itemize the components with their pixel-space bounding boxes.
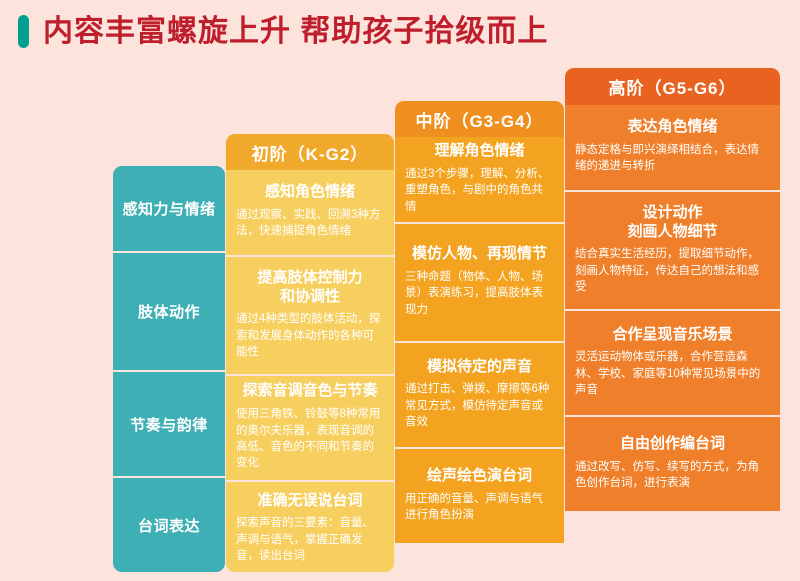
cell-l1-r4: 准确无误说台词 探索声音的三要素：音量、声调与语气，掌握正确发音，读出台词 (226, 482, 394, 572)
cell-l3-r3: 合作呈现音乐场景 灵活运动物体或乐器，合作营造森林、学校、家庭等10种常见场景中… (565, 311, 780, 417)
level-header-intermediate: 中阶（G3-G4） (395, 101, 564, 137)
curriculum-matrix: 感知力与情绪 肢体动作 节奏与韵律 台词表达 初阶（K-G2） 感知角色情绪 通… (0, 0, 800, 581)
cell-desc: 通过3个步骤，理解、分析、重塑角色，与剧中的角色共情 (405, 166, 554, 215)
cell-desc: 灵活运动物体或乐器，合作营造森林、学校、家庭等10种常见场景中的声音 (575, 349, 770, 398)
cell-desc: 用正确的音量、声调与语气进行角色扮演 (405, 491, 554, 524)
level-column-beginner: 初阶（K-G2） 感知角色情绪 通过观察、实践、回溯3种方法，快速捕捉角色情绪 … (226, 134, 394, 572)
cell-desc: 探索声音的三要素：音量、声调与语气，掌握正确发音，读出台词 (236, 515, 384, 564)
cell-desc: 结合真实生活经历，提取细节动作，刻画人物特征，传达自己的想法和感受 (575, 246, 770, 295)
cell-title: 理解角色情绪 (434, 142, 524, 161)
cell-l1-r3: 探索音调音色与节奏 使用三角铁、铃鼓等8种常用的奥尔夫乐器，表现音调的高低、音色… (226, 376, 394, 482)
cell-desc: 通过改写、仿写、续写的方式，为角色创作台词，进行表演 (575, 459, 770, 492)
cell-title: 探索音调音色与节奏 (242, 382, 377, 401)
cell-l2-r1: 理解角色情绪 通过3个步骤，理解、分析、重塑角色，与剧中的角色共情 (395, 137, 564, 224)
row-label-text: 节奏与韵律 (130, 414, 208, 435)
level-body-advanced: 表达角色情绪 静态定格与即兴演绎相结合，表达情绪的递进与转折 设计动作 刻画人物… (565, 105, 780, 572)
level-body-beginner: 感知角色情绪 通过观察、实践、回溯3种方法，快速捕捉角色情绪 提高肢体控制力 和… (226, 170, 394, 572)
cell-l3-r4: 自由创作编台词 通过改写、仿写、续写的方式，为角色创作台词，进行表演 (565, 417, 780, 511)
cell-title: 绘声绘色演台词 (427, 467, 532, 486)
cell-title: 合作呈现音乐场景 (612, 326, 732, 345)
cell-l1-r1: 感知角色情绪 通过观察、实践、回溯3种方法，快速捕捉角色情绪 (226, 170, 394, 257)
cell-l1-r2: 提高肢体控制力 和协调性 通过4种类型的肢体活动，探索和发展身体动作的各种可能性 (226, 257, 394, 376)
row-label-text: 台词表达 (138, 515, 200, 536)
row-label-rhythm: 节奏与韵律 (113, 372, 225, 478)
cell-title: 模仿人物、再现情节 (412, 245, 547, 264)
level-header-beginner: 初阶（K-G2） (226, 134, 394, 170)
cell-desc: 使用三角铁、铃鼓等8种常用的奥尔夫乐器，表现音调的高低、音色的不同和节奏的变化 (236, 406, 384, 471)
level-column-advanced: 高阶（G5-G6） 表达角色情绪 静态定格与即兴演绎相结合，表达情绪的递进与转折… (565, 68, 780, 572)
row-label-body-movement: 肢体动作 (113, 253, 225, 372)
cell-title: 自由创作编台词 (620, 435, 725, 454)
row-label-text: 感知力与情绪 (122, 198, 215, 219)
cell-title: 准确无误说台词 (257, 492, 362, 511)
cell-title: 提高肢体控制力 和协调性 (257, 269, 362, 307)
cell-l3-r2: 设计动作 刻画人物细节 结合真实生活经历，提取细节动作，刻画人物特征，传达自己的… (565, 192, 780, 311)
row-label-lines: 台词表达 (113, 478, 225, 572)
cell-title: 设计动作 刻画人物细节 (627, 204, 717, 242)
cell-title: 表达角色情绪 (627, 118, 717, 137)
cell-desc: 三种命题（物体、人物、场景）表演练习，提高肢体表现力 (405, 269, 554, 318)
row-label-perception: 感知力与情绪 (113, 166, 225, 253)
cell-l2-r3: 模拟待定的声音 通过打击、弹拨、摩擦等6种常见方式，模仿待定声音或音效 (395, 343, 564, 449)
level-body-intermediate: 理解角色情绪 通过3个步骤，理解、分析、重塑角色，与剧中的角色共情 模仿人物、再… (395, 137, 564, 572)
cell-desc: 通过4种类型的肢体活动，探索和发展身体动作的各种可能性 (236, 311, 384, 360)
row-label-text: 肢体动作 (138, 301, 200, 322)
cell-l3-r1: 表达角色情绪 静态定格与即兴演绎相结合，表达情绪的递进与转折 (565, 105, 780, 192)
cell-l2-r2: 模仿人物、再现情节 三种命题（物体、人物、场景）表演练习，提高肢体表现力 (395, 224, 564, 343)
cell-desc: 静态定格与即兴演绎相结合，表达情绪的递进与转折 (575, 142, 770, 175)
cell-title: 模拟待定的声音 (427, 358, 532, 377)
cell-desc: 通过打击、弹拨、摩擦等6种常见方式，模仿待定声音或音效 (405, 381, 554, 430)
level-column-intermediate: 中阶（G3-G4） 理解角色情绪 通过3个步骤，理解、分析、重塑角色，与剧中的角… (395, 101, 564, 572)
cell-l2-r4: 绘声绘色演台词 用正确的音量、声调与语气进行角色扮演 (395, 449, 564, 543)
level-header-advanced: 高阶（G5-G6） (565, 68, 780, 105)
row-label-column: 感知力与情绪 肢体动作 节奏与韵律 台词表达 (113, 166, 225, 572)
cell-desc: 通过观察、实践、回溯3种方法，快速捕捉角色情绪 (236, 207, 384, 240)
row-label-body: 感知力与情绪 肢体动作 节奏与韵律 台词表达 (113, 166, 225, 572)
cell-title: 感知角色情绪 (265, 183, 355, 202)
